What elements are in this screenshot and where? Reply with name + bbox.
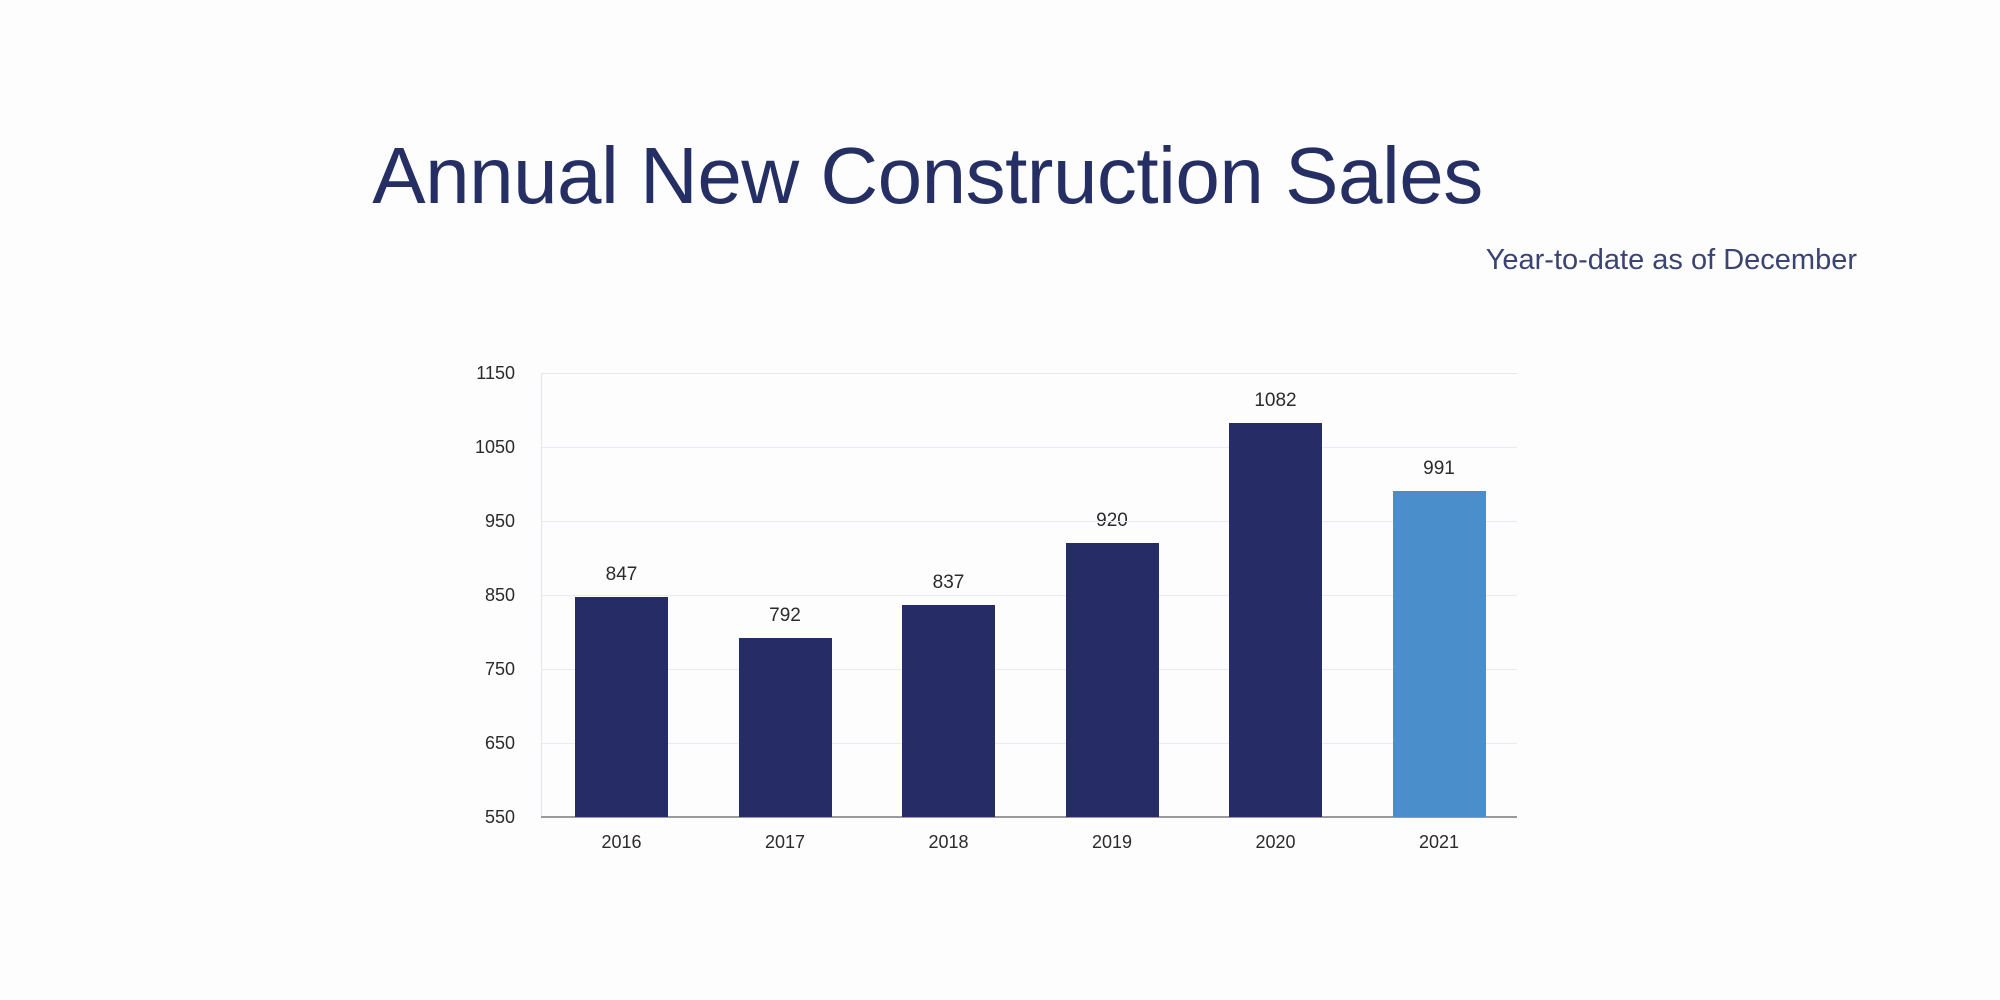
gridline bbox=[541, 521, 1517, 522]
y-axis-tick-label: 1150 bbox=[395, 364, 515, 382]
y-axis-tick-label: 650 bbox=[395, 734, 515, 752]
x-axis-tick-label-2016: 2016 bbox=[552, 833, 692, 851]
y-axis-line bbox=[541, 373, 542, 817]
chart-subtitle: Year-to-date as of December bbox=[0, 243, 1857, 277]
y-axis-tick-label: 1050 bbox=[395, 438, 515, 456]
x-axis-tick-label-2021: 2021 bbox=[1369, 833, 1509, 851]
bar-2021[interactable] bbox=[1393, 491, 1486, 817]
x-axis-tick-label-2018: 2018 bbox=[879, 833, 1019, 851]
gridline bbox=[541, 373, 1517, 374]
bar-2020[interactable] bbox=[1229, 423, 1322, 817]
chart-canvas: Annual New Construction Sales Year-to-da… bbox=[0, 0, 2000, 1000]
bar-2018[interactable] bbox=[902, 605, 995, 817]
gridline bbox=[541, 669, 1517, 670]
y-axis-tick-label: 550 bbox=[395, 808, 515, 826]
bar-2017[interactable] bbox=[739, 638, 832, 817]
x-axis-line bbox=[541, 816, 1517, 818]
x-axis-tick-label-2019: 2019 bbox=[1042, 833, 1182, 851]
plot-area bbox=[541, 373, 1517, 817]
bar-2019[interactable] bbox=[1066, 543, 1159, 817]
y-axis-tick-label: 750 bbox=[395, 660, 515, 678]
gridline bbox=[541, 595, 1517, 596]
x-axis-tick-label-2017: 2017 bbox=[715, 833, 855, 851]
y-axis-tick-label: 850 bbox=[395, 586, 515, 604]
gridline bbox=[541, 447, 1517, 448]
y-axis-tick-label: 950 bbox=[395, 512, 515, 530]
gridline bbox=[541, 743, 1517, 744]
bar-2016[interactable] bbox=[575, 597, 668, 817]
page-title: Annual New Construction Sales bbox=[0, 128, 2000, 224]
x-axis-tick-label-2020: 2020 bbox=[1206, 833, 1346, 851]
